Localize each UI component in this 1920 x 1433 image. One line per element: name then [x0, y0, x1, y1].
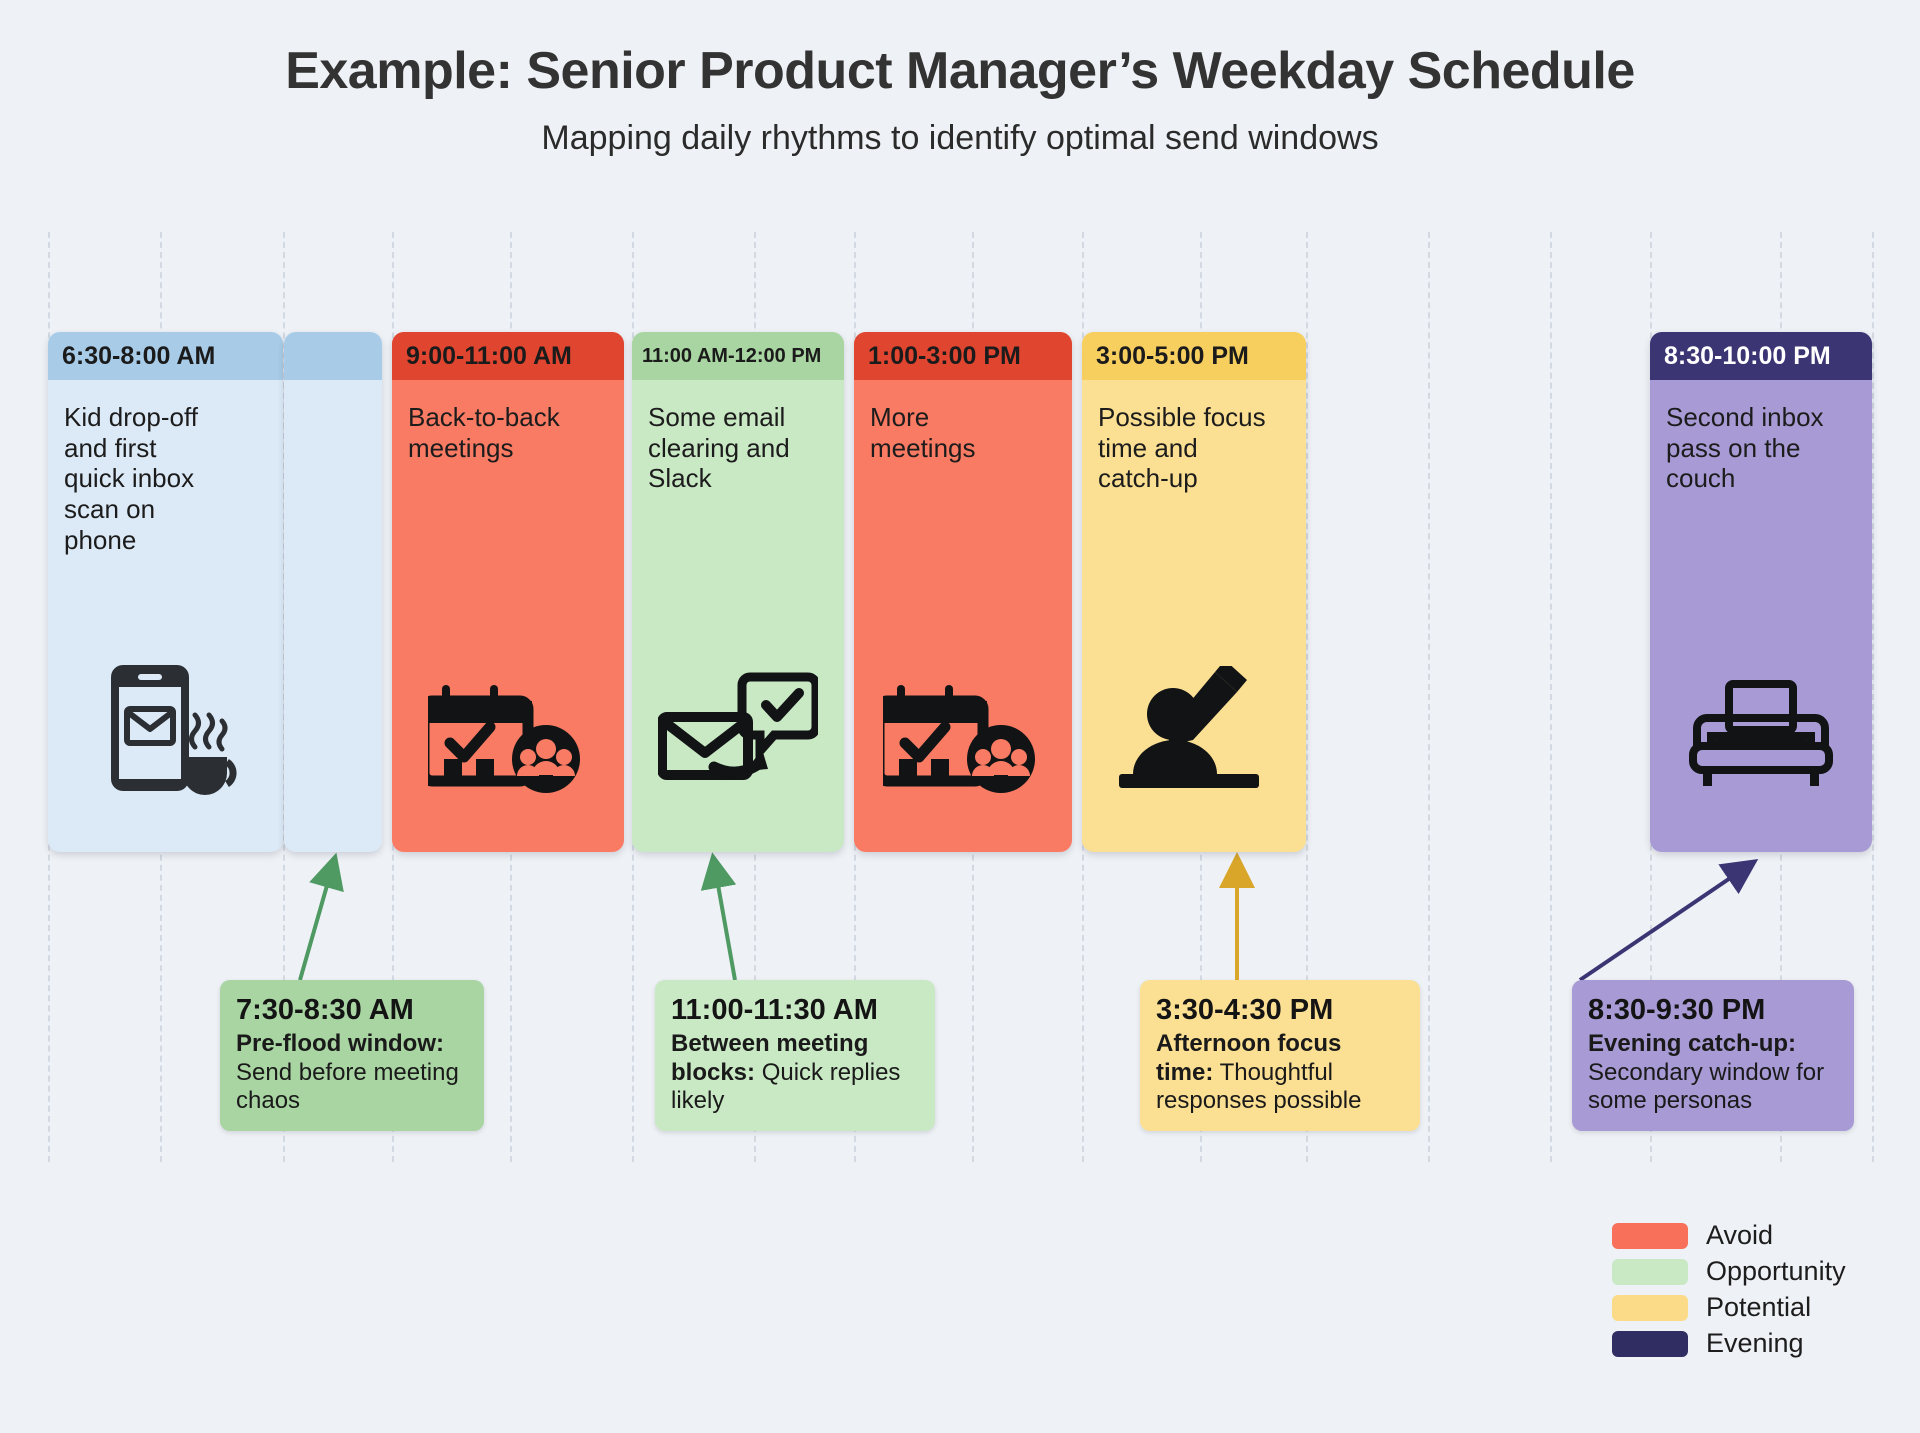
- legend-label: Opportunity: [1706, 1258, 1846, 1285]
- legend-swatch: [1612, 1295, 1688, 1321]
- person-writing-icon: [1082, 666, 1306, 796]
- calendar-people-icon: [392, 671, 624, 796]
- gridline: [1872, 232, 1874, 1162]
- card-time-header: 11:00 AM-12:00 PM: [632, 332, 844, 380]
- legend-item[interactable]: Evening: [1612, 1330, 1846, 1357]
- card-body-empty: [284, 380, 382, 852]
- card-time-header: 3:00-5:00 PM: [1082, 332, 1306, 380]
- timeline-card-back-to-back-meetings[interactable]: 9:00-11:00 AM Back-to-back meetings: [392, 332, 624, 852]
- arrow-to-morning-gap: [300, 868, 332, 980]
- callout-description: Evening catch-up: Secondary window for s…: [1588, 1030, 1838, 1114]
- legend-swatch: [1612, 1223, 1688, 1249]
- callout-description: Between meeting blocks: Quick replies li…: [671, 1030, 919, 1114]
- card-description: Some email clearing and Slack: [648, 402, 828, 494]
- card-description: Kid drop-off and first quick inbox scan …: [64, 402, 267, 555]
- card-body: Some email clearing and Slack: [632, 380, 844, 852]
- gridline: [1550, 232, 1552, 1162]
- calendar-people-icon: [854, 671, 1072, 796]
- callout-text: Secondary window for some personas: [1588, 1059, 1824, 1114]
- timeline-card-focus-time[interactable]: 3:00-5:00 PM Possible focus time and cat…: [1082, 332, 1306, 852]
- card-time-header: 9:00-11:00 AM: [392, 332, 624, 380]
- page-title: Example: Senior Product Manager’s Weekda…: [0, 42, 1920, 100]
- email-reply-check-icon: [632, 671, 844, 796]
- timeline-card-evening-inbox[interactable]: 8:30-10:00 PM Second inbox pass on the c…: [1650, 332, 1872, 852]
- legend-label: Evening: [1706, 1330, 1804, 1357]
- legend-label: Potential: [1706, 1294, 1811, 1321]
- callout-time: 7:30-8:30 AM: [236, 994, 468, 1026]
- legend-swatch: [1612, 1331, 1688, 1357]
- arrow-to-evening-block: [1580, 868, 1745, 980]
- callout-afternoon-focus-time[interactable]: 3:30-4:30 PM Afternoon focus time: Thoug…: [1140, 980, 1420, 1131]
- timeline-card-more-meetings[interactable]: 1:00-3:00 PM More meetings: [854, 332, 1072, 852]
- card-time-header: 1:00-3:00 PM: [854, 332, 1072, 380]
- timeline-cards: 6:30-8:00 AM Kid drop-off and first quic…: [0, 0, 1920, 1433]
- card-description: Second inbox pass on the couch: [1666, 402, 1856, 494]
- header: Example: Senior Product Manager’s Weekda…: [0, 0, 1920, 159]
- card-description: Back-to-back meetings: [408, 402, 608, 463]
- legend-item[interactable]: Opportunity: [1612, 1258, 1846, 1285]
- card-time-header-empty: [284, 332, 382, 380]
- gridline: [1428, 232, 1430, 1162]
- card-description: More meetings: [870, 402, 1056, 463]
- legend-swatch: [1612, 1259, 1688, 1285]
- timeline-card-email-clearing[interactable]: 11:00 AM-12:00 PM Some email clearing an…: [632, 332, 844, 852]
- callout-description: Pre-flood window: Send before meeting ch…: [236, 1030, 468, 1114]
- card-body: Possible focus time and catch-up: [1082, 380, 1306, 852]
- callout-evening-catch-up[interactable]: 8:30-9:30 PM Evening catch-up: Secondary…: [1572, 980, 1854, 1131]
- timeline-card-morning-gap[interactable]: [284, 332, 382, 852]
- callout-time: 11:00-11:30 AM: [671, 994, 919, 1026]
- legend-item[interactable]: Potential: [1612, 1294, 1846, 1321]
- callout-time: 3:30-4:30 PM: [1156, 994, 1404, 1026]
- phone-email-coffee-icon: [48, 661, 283, 796]
- card-time-header: 6:30-8:00 AM: [48, 332, 283, 380]
- callout-time: 8:30-9:30 PM: [1588, 994, 1838, 1026]
- card-description: Possible focus time and catch-up: [1098, 402, 1290, 494]
- timeline-card-morning[interactable]: 6:30-8:00 AM Kid drop-off and first quic…: [48, 332, 283, 852]
- card-body: Second inbox pass on the couch: [1650, 380, 1872, 852]
- legend-label: Avoid: [1706, 1222, 1773, 1249]
- callout-between-meeting-blocks[interactable]: 11:00-11:30 AM Between meeting blocks: Q…: [655, 980, 935, 1131]
- laptop-couch-icon: [1650, 676, 1872, 796]
- legend-item[interactable]: Avoid: [1612, 1222, 1846, 1249]
- arrow-to-email-block: [715, 868, 735, 980]
- callout-pre-flood-window[interactable]: 7:30-8:30 AM Pre-flood window: Send befo…: [220, 980, 484, 1131]
- callout-label: Pre-flood window:: [236, 1030, 444, 1057]
- legend: AvoidOpportunityPotentialEvening: [1612, 1222, 1846, 1357]
- card-body: More meetings: [854, 380, 1072, 852]
- card-time-header: 8:30-10:00 PM: [1650, 332, 1872, 380]
- card-body: Kid drop-off and first quick inbox scan …: [48, 380, 283, 852]
- card-body: Back-to-back meetings: [392, 380, 624, 852]
- callout-text: Send before meeting chaos: [236, 1059, 459, 1114]
- callout-description: Afternoon focus time: Thoughtful respons…: [1156, 1030, 1404, 1114]
- page-subtitle: Mapping daily rhythms to identify optima…: [0, 118, 1920, 159]
- callout-label: Evening catch-up:: [1588, 1030, 1796, 1057]
